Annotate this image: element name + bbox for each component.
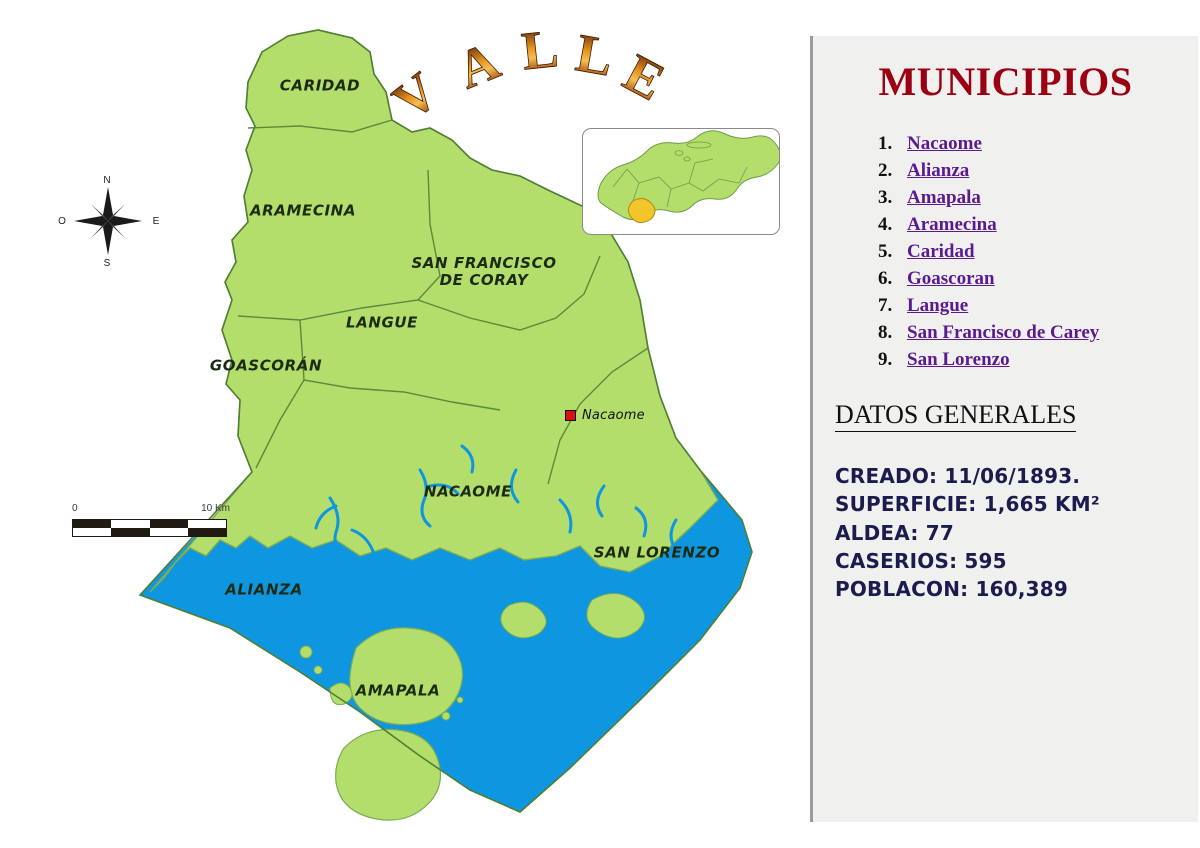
compass-west-label: O — [58, 216, 66, 227]
compass-rose: N S E O — [55, 170, 165, 270]
list-item: Amapala — [897, 185, 1198, 212]
page-title: MUNICIPIOS — [813, 58, 1198, 105]
capital-label: Nacaome — [582, 408, 645, 423]
municipio-link-aramecina[interactable]: Aramecina — [907, 214, 997, 235]
datos-generales-heading: DATOS GENERALES — [835, 400, 1076, 432]
map-label-nacaome: NACAOME — [424, 483, 512, 500]
compass-north-label: N — [103, 175, 110, 186]
isla-sur — [336, 729, 441, 820]
map-area: V A L L E N S E O — [0, 0, 800, 848]
municipio-link-goascoran[interactable]: Goascoran — [907, 268, 995, 289]
capital-marker-nacaome: Nacaome — [565, 408, 645, 423]
map-label-caridad: CARIDAD — [280, 77, 360, 94]
list-item: Alianza — [897, 158, 1198, 185]
municipios-list: NacaomeAlianzaAmapalaAramecinaCaridadGoa… — [813, 131, 1198, 374]
municipio-link-caridad[interactable]: Caridad — [907, 241, 975, 262]
scale-min-label: 0 — [72, 503, 78, 514]
municipio-link-langue[interactable]: Langue — [907, 295, 968, 316]
datos-row-0: CREADO: 11/06/1893. — [835, 462, 1198, 490]
list-item: Goascoran — [897, 266, 1198, 293]
municipio-link-san-francisco-de-carey[interactable]: San Francisco de Carey — [907, 322, 1099, 343]
list-item: San Francisco de Carey — [897, 320, 1198, 347]
municipio-link-san-lorenzo[interactable]: San Lorenzo — [907, 349, 1010, 370]
municipio-link-amapala[interactable]: Amapala — [907, 187, 981, 208]
map-label-san-francisco-de-coray: SAN FRANCISCODE CORAY — [411, 255, 556, 290]
datos-row-3: CASERIOS: 595 — [835, 547, 1198, 575]
scale-bar: 0 10 Km — [72, 503, 232, 549]
scale-max-label: 10 Km — [201, 503, 230, 514]
list-item: Nacaome — [897, 131, 1198, 158]
map-label-alianza: ALIANZA — [225, 581, 303, 598]
map-label-amapala: AMAPALA — [356, 682, 441, 699]
compass-south-label: S — [104, 258, 111, 269]
list-item: Aramecina — [897, 212, 1198, 239]
datos-generales-block: DATOS GENERALES CREADO: 11/06/1893.SUPER… — [813, 374, 1198, 604]
datos-generales-values: CREADO: 11/06/1893.SUPERFICIE: 1,665 KM²… — [835, 462, 1198, 604]
municipio-link-alianza[interactable]: Alianza — [907, 160, 969, 181]
map-label-san-lorenzo: SAN LORENZO — [594, 544, 721, 561]
datos-row-4: POBLACON: 160,389 — [835, 575, 1198, 603]
capital-square-icon — [565, 410, 576, 421]
map-label-aramecina: ARAMECINA — [250, 202, 356, 219]
datos-row-2: ALDEA: 77 — [835, 519, 1198, 547]
list-item: Langue — [897, 293, 1198, 320]
list-item: San Lorenzo — [897, 347, 1198, 374]
isla-amapala — [350, 628, 463, 725]
info-side-panel: MUNICIPIOS NacaomeAlianzaAmapalaAramecin… — [810, 36, 1198, 822]
locator-inset-map — [582, 128, 780, 235]
list-item: Caridad — [897, 239, 1198, 266]
compass-east-label: E — [153, 216, 160, 227]
map-label-langue: LANGUE — [346, 314, 418, 331]
map-label-goascorán: GOASCORÁN — [210, 357, 322, 374]
datos-row-1: SUPERFICIE: 1,665 KM² — [835, 490, 1198, 518]
municipio-link-nacaome[interactable]: Nacaome — [907, 133, 982, 154]
